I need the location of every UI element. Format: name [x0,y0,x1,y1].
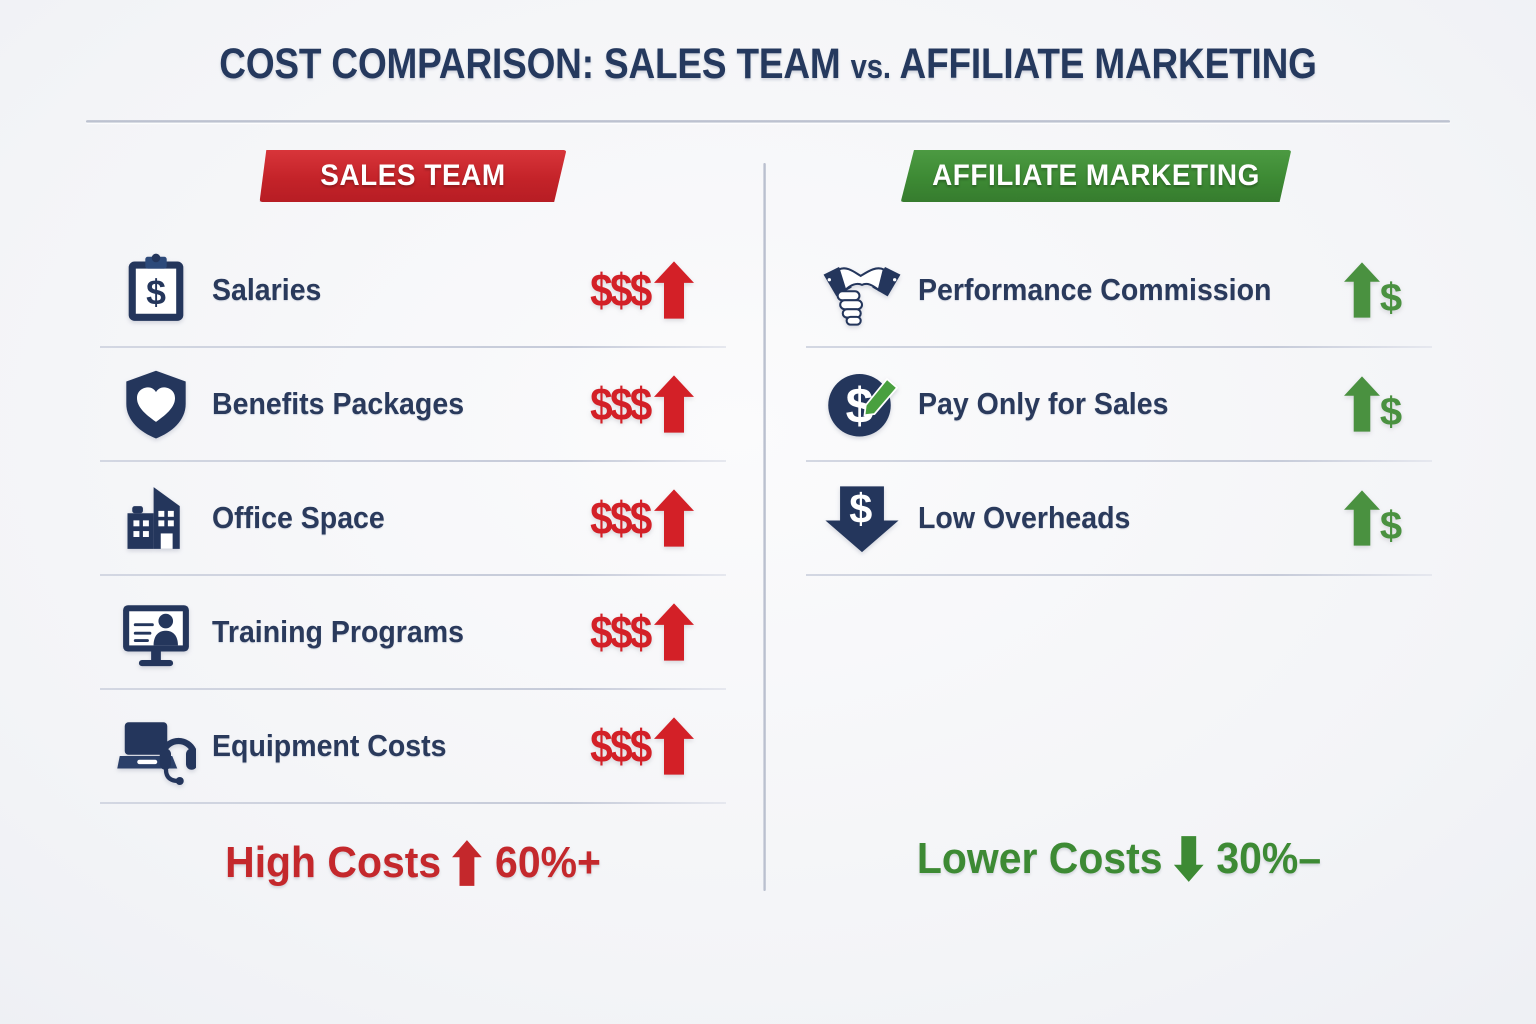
summary-down-arrow-icon [1172,835,1205,883]
clipboard-dollar-icon: $ [100,252,212,328]
shield-heart-icon [100,366,212,442]
table-row: $ Low Overheads $ [806,462,1432,576]
dollar-signs: $$$ [590,381,650,427]
trend-up-arrow-icon [1342,375,1382,433]
page-title: COST COMPARISON: SALES TEAM vs. AFFILIAT… [108,40,1429,89]
infographic-canvas: COST COMPARISON: SALES TEAM vs. AFFILIAT… [0,0,1536,1024]
trend-up-arrow-icon [652,260,696,320]
dollar-signs: $$$ [590,723,650,769]
sales-team-banner: SALES TEAM [260,150,567,202]
cost-indicator: $ [1312,260,1432,321]
table-row: Office Space $$$ [100,462,726,576]
trend-up-arrow-icon [652,602,696,662]
table-row: Performance Commission $ [806,234,1432,348]
sales-team-column: SALES TEAM $ Salaries $$$ [100,150,726,888]
office-building-icon [100,480,212,556]
cost-indicator: $$$ [578,260,726,320]
trend-up-arrow-icon [652,488,696,548]
affiliate-marketing-banner-label: AFFILIATE MARKETING [932,159,1260,193]
monitor-training-icon [100,593,212,671]
dollar-coin-check-icon: $ [806,364,918,444]
svg-text:$: $ [146,272,166,312]
svg-text:$: $ [849,485,872,532]
cost-indicator: $$$ [578,602,726,662]
dollar-signs: $$$ [590,267,650,313]
trend-up-arrow-icon [1342,489,1382,547]
affiliate-marketing-summary: Lower Costs 30%– [828,834,1410,884]
summary-up-arrow-icon [450,839,483,887]
affiliate-marketing-banner: AFFILIATE MARKETING [901,150,1292,202]
trend-up-arrow-icon [652,374,696,434]
page-title-tail: AFFILIATE MARKETING [891,40,1317,88]
row-label: Pay Only for Sales [918,386,1280,422]
empty-row-spacer [806,576,1432,688]
sales-team-banner-label: SALES TEAM [320,159,505,193]
dollar-signs: $$$ [590,495,650,541]
cost-indicator: $$$ [578,488,726,548]
summary-text: Lower Costs [917,834,1163,884]
row-label: Performance Commission [918,272,1280,308]
page-title-vs: vs. [851,48,891,86]
dollar-sign: $ [1380,276,1402,321]
dollar-down-arrow-icon: $ [806,479,918,557]
row-label: Office Space [212,500,549,536]
dollar-signs: $$$ [590,609,650,655]
handshake-icon [806,249,918,331]
table-row: $ Salaries $$$ [100,234,726,348]
sales-team-summary: High Costs 60%+ [122,838,704,888]
cost-indicator: $$$ [578,716,726,776]
affiliate-marketing-column: AFFILIATE MARKETING [806,150,1432,884]
summary-text: High Costs [225,838,441,888]
dollar-sign: $ [1380,390,1402,435]
trend-up-arrow-icon [652,716,696,776]
summary-value: 30%– [1216,834,1321,884]
table-row: Equipment Costs $$$ [100,690,726,804]
row-label: Training Programs [212,614,549,650]
sales-team-banner-wrap: SALES TEAM [100,150,726,208]
trend-up-arrow-icon [1342,261,1382,319]
summary-value: 60%+ [495,838,601,888]
cost-indicator: $$$ [578,374,726,434]
cost-indicator: $ [1312,488,1432,549]
dollar-sign: $ [1380,504,1402,549]
column-divider [763,163,766,891]
laptop-headset-icon [100,706,212,786]
row-label: Benefits Packages [212,386,549,422]
table-row: Training Programs $$$ [100,576,726,690]
table-row: $ Pay Only for Sales $ [806,348,1432,462]
empty-row-spacer [806,688,1432,800]
page-title-main: COST COMPARISON: SALES TEAM [219,40,850,88]
table-row: Benefits Packages $$$ [100,348,726,462]
row-label: Salaries [212,272,549,308]
affiliate-banner-wrap: AFFILIATE MARKETING [806,150,1432,208]
cost-indicator: $ [1312,374,1432,435]
row-label: Low Overheads [918,500,1280,536]
row-label: Equipment Costs [212,728,549,764]
title-underline [86,120,1450,123]
